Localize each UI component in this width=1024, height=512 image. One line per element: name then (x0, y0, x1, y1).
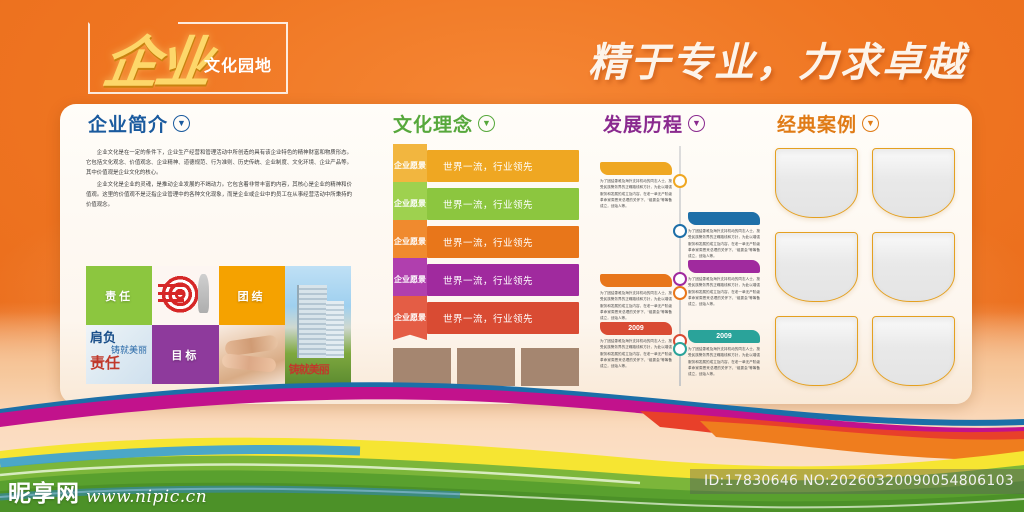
section-header-cases: 经典案例 ▼ (777, 110, 879, 137)
timeline-text: 为了团结患难及海外支持机动的同志人士，按受民族警务界的正确路线和方针，为此以增强… (688, 276, 760, 307)
vision-tag: 企业愿景 (393, 296, 427, 340)
timeline-ribbon: 2009 (688, 330, 760, 343)
timeline-node (673, 272, 687, 286)
building-tower-a (297, 285, 327, 358)
timeline-entry: 2009 为了团结患难及海外支持机动的同志人士，按受民族警务界的正确路线和方针，… (688, 330, 760, 377)
case-placeholder[interactable] (872, 148, 955, 218)
vision-tag: 企业愿景 (393, 182, 427, 226)
section-header-culture: 文化理念 ▼ (393, 110, 495, 137)
thumbnail-placeholder (457, 348, 515, 386)
timeline-node (673, 342, 687, 356)
timeline-ribbon (600, 274, 672, 287)
timeline-entry: 为了团结患难及海外支持机动的同志人士，按受民族警务界的正确路线和方针，为此以增强… (688, 212, 760, 259)
logo-subtitle: 文化园地 (204, 52, 272, 76)
book-text-c: 铸就美丽 (111, 343, 147, 356)
vision-text: 世界一流，行业领先 (427, 226, 579, 258)
timeline-text: 为了团结患难及海外支持机动的同志人士，按受民族警务界的正确路线和方针，为此以增强… (688, 346, 760, 377)
intro-paragraph-2: 企业文化是企业的灵魂，是推动企业发展的不竭动力。它包含着非常丰富的内容，其核心是… (86, 180, 352, 210)
timeline-ribbon (600, 162, 672, 175)
collage-photo-hands (219, 325, 285, 384)
thumbnail-placeholder (521, 348, 579, 386)
collage-label: 责任 (105, 288, 133, 304)
vision-text: 世界一流，行业领先 (427, 264, 579, 296)
vision-bar: 企业愿景 世界一流，行业领先 (393, 226, 579, 258)
collage-cell-responsibility: 责任 (86, 266, 152, 325)
company-intro-body: 企业文化是在一定的条件下，企业生产经营和管理活动中所创造的具有该企业特色的精神财… (86, 148, 352, 212)
timeline-node (673, 224, 687, 238)
person-figure-icon (198, 274, 209, 313)
watermark-url: www.nipic.cn (86, 487, 207, 508)
timeline-entry: 为了团结患难及海外支持机动的同志人士，按受民族警务界的正确路线和方针，为此以增强… (600, 228, 672, 321)
section-title: 经典案例 (777, 110, 857, 137)
timeline-node (673, 286, 687, 300)
logo-chinese-calligraphy: 企业 (98, 18, 213, 99)
vision-bar: 企业愿景 世界一流，行业领先 (393, 302, 579, 334)
timeline-text: 为了团结患难及海外支持机动的同志人士，按受民族警务界的正确路线和方针，为此以增强… (600, 178, 672, 209)
thumbnail-placeholder (393, 348, 451, 386)
arrow-icon (158, 292, 185, 295)
vision-text: 世界一流，行业领先 (427, 150, 579, 182)
vision-tag: 企业愿景 (393, 220, 427, 264)
vision-bar: 企业愿景 世界一流，行业领先 (393, 264, 579, 296)
building-tower-b (326, 301, 345, 358)
vision-bar: 企业愿景 世界一流，行业领先 (393, 188, 579, 220)
timeline-ribbon: 2009 (600, 322, 672, 335)
section-title: 企业简介 (88, 110, 168, 137)
section-header-history: 发展历程 ▼ (603, 110, 705, 137)
vision-tag: 企业愿景 (393, 144, 427, 188)
main-slogan: 精于专业，力求卓越 (588, 30, 966, 88)
section-header-company-intro: 企业简介 ▼ (88, 110, 190, 137)
building-sign-text: 铸就美丽 (289, 361, 329, 377)
intro-paragraph-1: 企业文化是在一定的条件下，企业生产经营和管理活动中所创造的具有该企业特色的精神财… (86, 148, 352, 178)
vision-tag: 企业愿景 (393, 258, 427, 302)
case-placeholder[interactable] (775, 148, 858, 218)
timeline-text: 为了团结患难及海外支持机动的同志人士，按受民族警务界的正确路线和方针，为此以增强… (600, 338, 672, 369)
timeline-ribbon (688, 260, 760, 273)
development-timeline: 为了团结患难及海外支持机动的同志人士，按受民族警务界的正确路线和方针，为此以增强… (600, 146, 760, 386)
timeline-text: 为了团结患难及海外支持机动的同志人士，按受民族警务界的正确路线和方针，为此以增强… (600, 290, 672, 321)
timeline-text: 为了团结患难及海外支持机动的同志人士，按受民族警务界的正确路线和方针，为此以增强… (688, 228, 760, 259)
timeline-entry: 2009 为了团结患难及海外支持机动的同志人士，按受民族警务界的正确路线和方针，… (600, 322, 672, 369)
collage-cell-unity: 团结 (219, 266, 285, 325)
collage-cell-goal: 目标 (152, 325, 218, 384)
collage-photo-building: 铸就美丽 (285, 266, 351, 384)
case-placeholder[interactable] (872, 316, 955, 386)
chevron-down-icon[interactable]: ▼ (688, 115, 705, 132)
classic-cases-grid (775, 148, 955, 386)
timeline-node (673, 174, 687, 188)
vision-text: 世界一流，行业领先 (427, 302, 579, 334)
collage-photo-target-icon (152, 266, 218, 325)
section-title: 文化理念 (393, 110, 473, 137)
chevron-down-icon[interactable]: ▼ (862, 115, 879, 132)
collage-photo-book: 肩负 责任 铸就美丽 (86, 325, 152, 384)
chevron-down-icon[interactable]: ▼ (173, 115, 190, 132)
id-bar: ID:17830646 NO:20260320090054806103 (690, 469, 1024, 494)
case-placeholder[interactable] (775, 232, 858, 302)
collage-label: 团结 (238, 288, 266, 304)
collage-label: 目标 (171, 347, 199, 363)
photo-collage: 责任 团结 铸就美丽 肩负 责任 铸就美丽 目标 (86, 266, 351, 384)
section-title: 发展历程 (603, 110, 683, 137)
watermark: 昵享网 www.nipic.cn (8, 474, 207, 508)
timeline-entry: 为了团结患难及海外支持机动的同志人士，按受民族警务界的正确路线和方针，为此以增强… (600, 162, 672, 209)
timeline-ribbon (688, 212, 760, 225)
vision-bar: 企业愿景 世界一流，行业领先 (393, 150, 579, 182)
culture-thumbnails (393, 348, 579, 386)
poster-canvas: 企业 文化园地 精于专业，力求卓越 企业简介 ▼ 文化理念 ▼ 发展历程 ▼ 经… (0, 0, 1024, 512)
vision-text: 世界一流，行业领先 (427, 188, 579, 220)
chevron-down-icon[interactable]: ▼ (478, 115, 495, 132)
case-placeholder[interactable] (775, 316, 858, 386)
logo: 企业 文化园地 (88, 22, 288, 94)
case-placeholder[interactable] (872, 232, 955, 302)
vision-bars: 企业愿景 世界一流，行业领先 企业愿景 世界一流，行业领先 企业愿景 世界一流，… (393, 150, 579, 340)
watermark-brand: 昵享网 (8, 474, 80, 508)
timeline-entry: 为了团结患难及海外支持机动的同志人士，按受民族警务界的正确路线和方针，为此以增强… (688, 260, 760, 307)
